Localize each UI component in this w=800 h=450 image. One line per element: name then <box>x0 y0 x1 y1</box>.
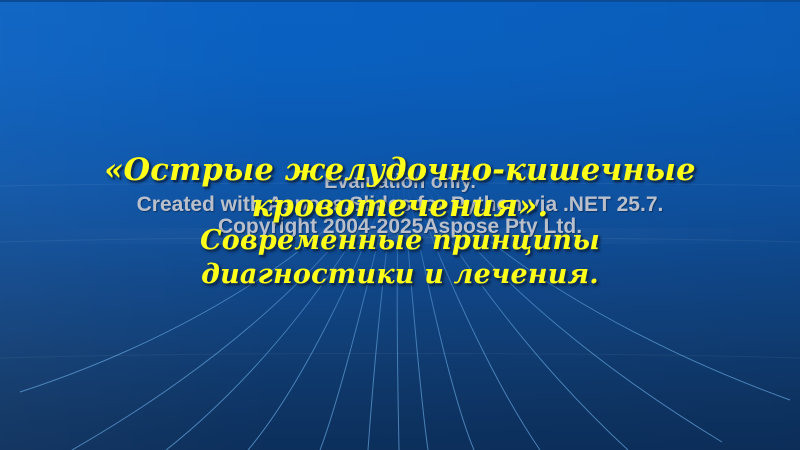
slide-title: «Острые желудочно-кишечные кровотечения»… <box>0 152 800 292</box>
title-line-4: диагностики и лечения. <box>0 258 800 292</box>
title-line-3: Современные принципы <box>0 224 800 258</box>
presentation-slide: Evaluation only. Created with Aspose.Sli… <box>0 0 800 450</box>
title-line-2: кровотечения». <box>0 188 800 224</box>
title-line-1: «Острые желудочно-кишечные <box>0 152 800 188</box>
